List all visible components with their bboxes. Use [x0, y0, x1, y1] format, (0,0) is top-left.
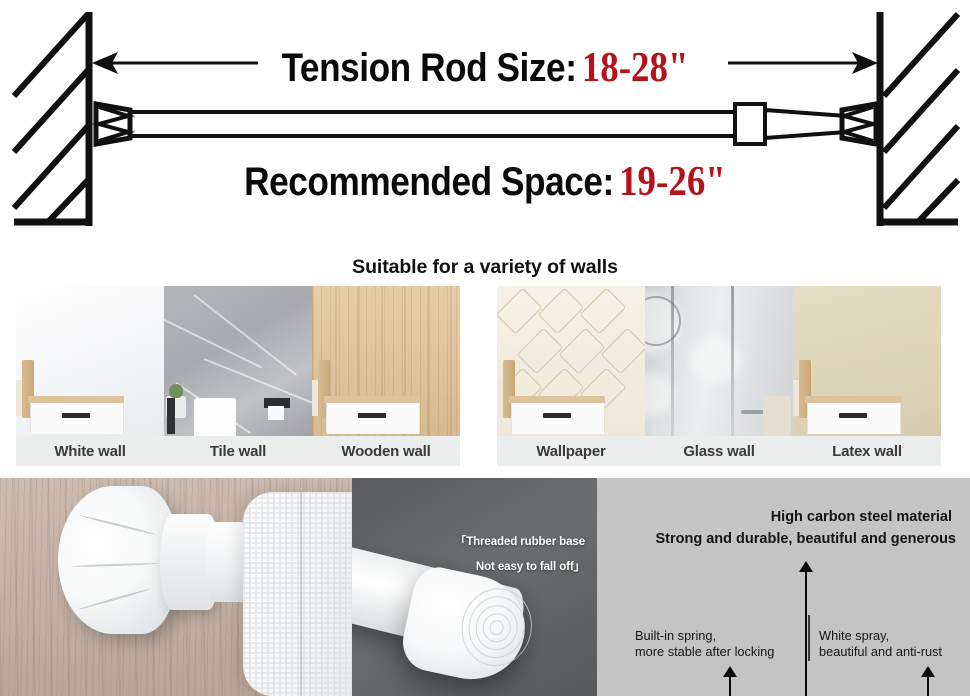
- callout-arrow-right: [927, 675, 929, 696]
- feature-callout-spring-line2: more stable after locking: [635, 644, 774, 660]
- recommended-space-value: 19-26": [614, 159, 726, 205]
- wall-thumb-white-wall: [16, 286, 164, 436]
- wall-card-tile-wall: Tile wall: [164, 286, 312, 466]
- size-diagram-section: Tension Rod Size:18-28" Recommended Spac…: [0, 0, 970, 236]
- feature-headline-material: High carbon steel material: [771, 509, 952, 525]
- towel-photo: [243, 492, 352, 696]
- callout-arrow-left: [729, 675, 731, 696]
- wall-label-wallpaper: Wallpaper: [497, 436, 645, 466]
- tension-rod-size-label: Tension Rod Size:: [281, 46, 576, 90]
- recommended-space-text: Recommended Space:19-26": [244, 158, 726, 206]
- wall-card-white-wall: White wall: [16, 286, 164, 466]
- rubber-base-caption-line2: Not easy to fall off」: [476, 558, 585, 574]
- wall-types-section: Suitable for a variety of walls White wa…: [0, 236, 970, 478]
- left-wall-hatching: [14, 14, 88, 222]
- feature-callout-spring: Built-in spring, more stable after locki…: [635, 628, 774, 659]
- tension-rod-size-text: Tension Rod Size:18-28": [281, 44, 688, 92]
- wall-types-title: Suitable for a variety of walls: [0, 256, 970, 279]
- wall-types-right-group: Wallpaper: [497, 286, 941, 466]
- rubber-base-caption-line1: 「Threaded rubber base: [455, 533, 585, 549]
- towel-seam: [300, 492, 302, 696]
- product-detail-panels: 「Threaded rubber base Not easy to fall o…: [0, 478, 970, 696]
- feature-headline-durability: Strong and durable, beautiful and genero…: [656, 531, 957, 547]
- rod-left-end-cap: [96, 104, 130, 144]
- wall-thumb-latex-wall: [793, 286, 941, 436]
- wall-label-tile-wall: Tile wall: [164, 436, 312, 466]
- wall-label-latex-wall: Latex wall: [793, 436, 941, 466]
- panel-threaded-rubber-base: 「Threaded rubber base Not easy to fall o…: [352, 478, 597, 696]
- wall-label-white-wall: White wall: [16, 436, 164, 466]
- wall-card-wallpaper: Wallpaper: [497, 286, 645, 466]
- feature-callout-spray-line2: beautiful and anti-rust: [819, 644, 942, 660]
- wall-label-glass-wall: Glass wall: [645, 436, 793, 466]
- rod-coupling: [735, 104, 765, 144]
- rod-inner-section: [765, 110, 846, 138]
- rod-right-end-cap: [842, 104, 876, 144]
- tension-rod-graphic: [96, 104, 876, 144]
- callout-divider: [808, 615, 810, 661]
- wall-thumb-wooden-wall: [312, 286, 460, 436]
- feature-callout-spring-line1: Built-in spring,: [635, 628, 774, 644]
- panel-rod-end-on-wall: [0, 478, 352, 696]
- wall-types-left-group: White wall: [16, 286, 460, 466]
- wall-label-wooden-wall: Wooden wall: [312, 436, 460, 466]
- wall-card-latex-wall: Latex wall: [793, 286, 941, 466]
- wall-thumb-wallpaper: [497, 286, 645, 436]
- feature-callout-spray: White spray, beautiful and anti-rust: [819, 628, 942, 659]
- panel-feature-callouts: High carbon steel material Strong and du…: [597, 478, 970, 696]
- feature-callout-spray-line1: White spray,: [819, 628, 942, 644]
- tension-rod-size-value: 18-28": [576, 45, 688, 91]
- wall-thumb-tile-wall: [164, 286, 312, 436]
- wall-thumb-glass-wall: [645, 286, 793, 436]
- product-infographic: Tension Rod Size:18-28" Recommended Spac…: [0, 0, 970, 696]
- right-wall-hatching: [884, 14, 958, 222]
- callout-arrow-center: [805, 570, 807, 696]
- wall-card-wooden-wall: Wooden wall: [312, 286, 460, 466]
- wall-card-glass-wall: Glass wall: [645, 286, 793, 466]
- recommended-space-label: Recommended Space:: [244, 160, 614, 204]
